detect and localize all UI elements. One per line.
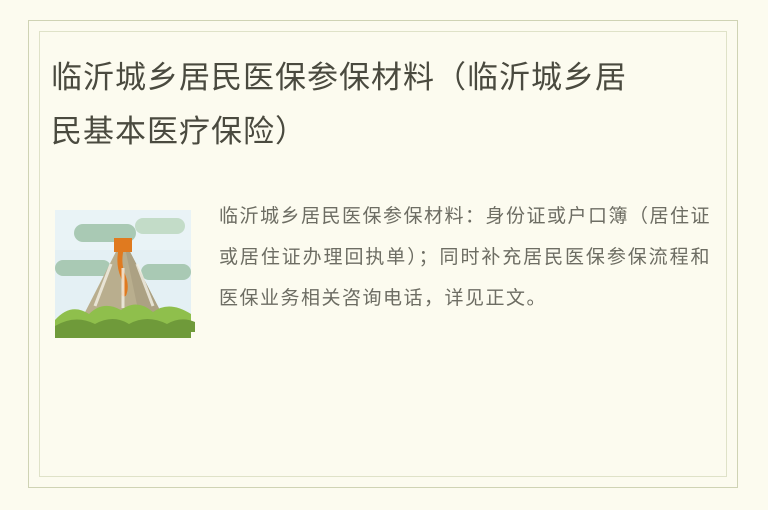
article-body: 临沂城乡居民医保参保材料：身份证或户口簿（居住证或居住证办理回执单）；同时补充居… [51,196,719,346]
volcano-illustration [51,202,195,346]
article-description: 临沂城乡居民医保参保材料：身份证或户口簿（居住证或居住证办理回执单）；同时补充居… [219,196,719,319]
page-title: 临沂城乡居民医保参保材料（临沂城乡居民基本医疗保险） [51,51,651,159]
article-card: 临沂城乡居民医保参保材料（临沂城乡居民基本医疗保险） [28,20,738,488]
